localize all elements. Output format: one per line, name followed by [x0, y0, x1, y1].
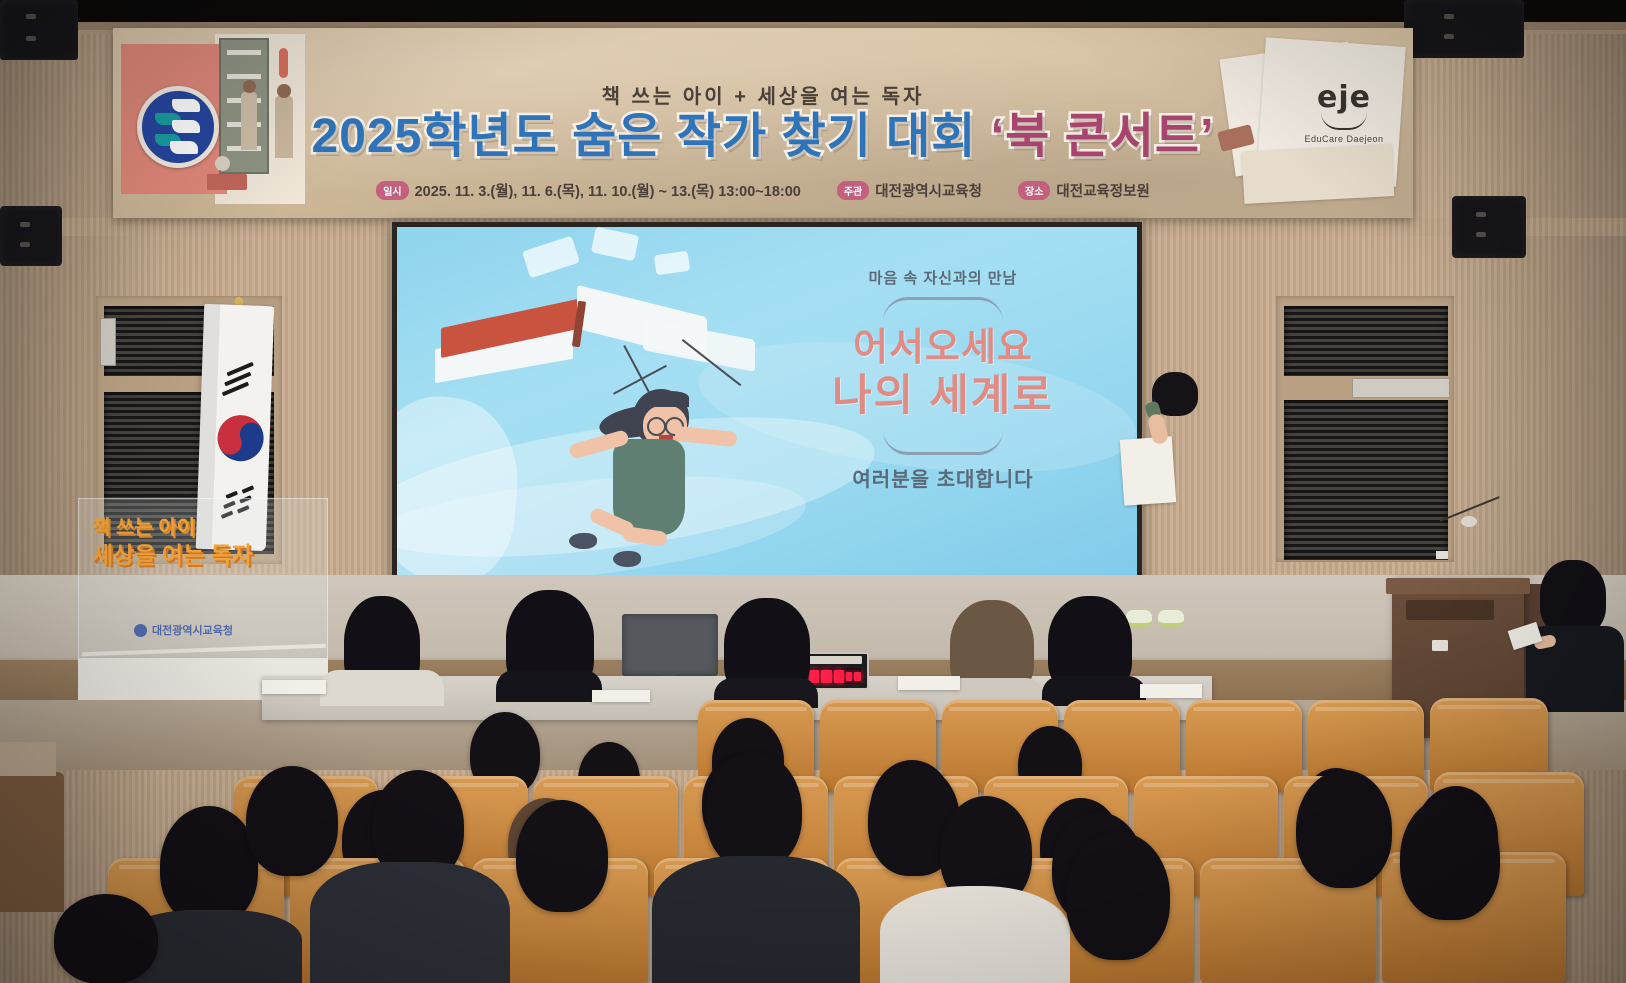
ceiling-speaker: [1404, 0, 1524, 58]
org-logo-small: 대전광역시교육청: [134, 622, 233, 638]
banner-subtitle: 책 쓰는 아이 + 세상을 여는 독자: [113, 80, 1413, 109]
stage-left-signboard: 책 쓰는 아이 세상을 여는 독자 대전광역시교육청: [78, 498, 328, 696]
desk-paper: [262, 680, 326, 694]
microphone-mount: [1436, 551, 1448, 559]
slide-illustration: [427, 279, 757, 599]
slide-footer-text: 여러분을 초대합니다: [757, 463, 1129, 492]
stage-sign-line1-strong: 책: [92, 517, 110, 539]
desk-paper: [898, 676, 960, 690]
slide-text-block: 마음 속 자신과의 만남 어서오세요 나의 세계로 여러분을 초대합니다: [757, 267, 1129, 492]
banner-title-quoted: ‘북 콘서트’: [991, 110, 1215, 163]
judge-seat-2: [496, 590, 602, 700]
judge-seat-1: [318, 596, 446, 700]
banner-title: 2025학년도 숨은 작가 찾기 대회 ‘북 콘서트’: [113, 110, 1413, 164]
wall-air-vent: [1284, 306, 1448, 376]
audience-head: [1400, 796, 1500, 920]
audience-head: [246, 766, 338, 876]
audience-shoulders-light: [880, 886, 1070, 983]
org-logo-icon: [134, 624, 147, 637]
lectern-top: [1386, 578, 1530, 594]
microphone-icon: [1461, 516, 1477, 527]
wall-air-vent: [1284, 400, 1448, 560]
vent-handle: [100, 318, 116, 366]
audience-head: [516, 800, 608, 912]
projection-screen-frame: 마음 속 자신과의 만남 어서오세요 나의 세계로 여러분을 초대합니다: [392, 222, 1142, 610]
stage-sign-line1: 책 쓰는 아이: [92, 512, 322, 539]
banner-details: 일시 2025. 11. 3.(월), 11. 6.(목), 11. 10.(월…: [113, 180, 1413, 201]
side-ledge: [0, 742, 56, 776]
slide-lead-text: 마음 속 자신과의 만남: [757, 267, 1129, 288]
place-text: 대전교육정보원: [1056, 180, 1149, 201]
girl-glasses-left: [647, 417, 666, 436]
seated-staff-right: [1522, 560, 1626, 710]
audience-head: [1066, 832, 1170, 960]
date-label-pill: 일시: [376, 181, 408, 200]
slide-headline-1: 어서오세요: [757, 326, 1129, 371]
date-text: 2025. 11. 3.(월), 11. 6.(목), 11. 10.(월) ~…: [415, 180, 801, 201]
host-text: 대전광역시교육청: [875, 180, 982, 201]
audience-shoulders: [652, 856, 860, 983]
audience-head: [1296, 770, 1392, 888]
auditorium-scene: eje EduCare Daejeon 책 쓰는 아이 + 세상을 여는 독자 …: [0, 0, 1626, 983]
stage-sign-text: 책 쓰는 아이 세상을 여는 독자: [92, 512, 322, 567]
ceiling-speaker: [0, 0, 78, 60]
vent-control-panel: [1352, 378, 1450, 398]
org-logo-text: 대전광역시교육청: [152, 622, 233, 638]
desk-paper: [1140, 684, 1202, 698]
judge-seat-5: [1042, 596, 1146, 702]
banner-date-block: 일시 2025. 11. 3.(월), 11. 6.(목), 11. 10.(월…: [376, 180, 801, 201]
stage-sign-line2: 세상을 여는 독자: [92, 543, 322, 567]
desk-paper: [592, 690, 650, 702]
glider-string: [624, 345, 652, 395]
girl-arm-right: [674, 426, 737, 447]
projection-screen: 마음 속 자신과의 만남 어서오세요 나의 세계로 여러분을 초대합니다: [397, 227, 1137, 605]
place-label-pill: 장소: [1018, 181, 1050, 200]
stage-sign-line1-rest: 쓰는 아이: [110, 517, 195, 539]
wall-speaker: [1452, 196, 1526, 258]
banner-host-block: 주관 대전광역시교육청: [837, 180, 982, 201]
side-furniture: [0, 772, 64, 912]
judge-seat-3: [714, 598, 818, 702]
event-banner: eje EduCare Daejeon 책 쓰는 아이 + 세상을 여는 독자 …: [113, 28, 1413, 218]
audience-shoulders: [310, 862, 510, 983]
presenter-shoe-right: [1158, 610, 1184, 627]
lectern-badge: [1432, 640, 1448, 651]
girl-bangs: [643, 391, 689, 407]
girl-shoe-left: [569, 533, 597, 549]
audience-head: [54, 894, 158, 983]
wall-speaker: [0, 206, 62, 266]
audience-head: [706, 752, 802, 870]
host-label-pill: 주관: [837, 181, 869, 200]
presenter-script-paper: [1120, 436, 1176, 505]
banner-place-block: 장소 대전교육정보원: [1018, 180, 1150, 201]
stage-monitor: [622, 614, 718, 676]
lectern-front-panel: [1406, 600, 1494, 620]
banner-title-main: 2025학년도 숨은 작가 찾기 대회: [312, 110, 991, 163]
brace-bottom-icon: [883, 430, 1003, 455]
brace-top-icon: [883, 297, 1003, 322]
slide-headline-2: 나의 세계로: [757, 371, 1129, 423]
audience-head: [160, 806, 258, 926]
girl-shoe-right: [613, 551, 641, 567]
